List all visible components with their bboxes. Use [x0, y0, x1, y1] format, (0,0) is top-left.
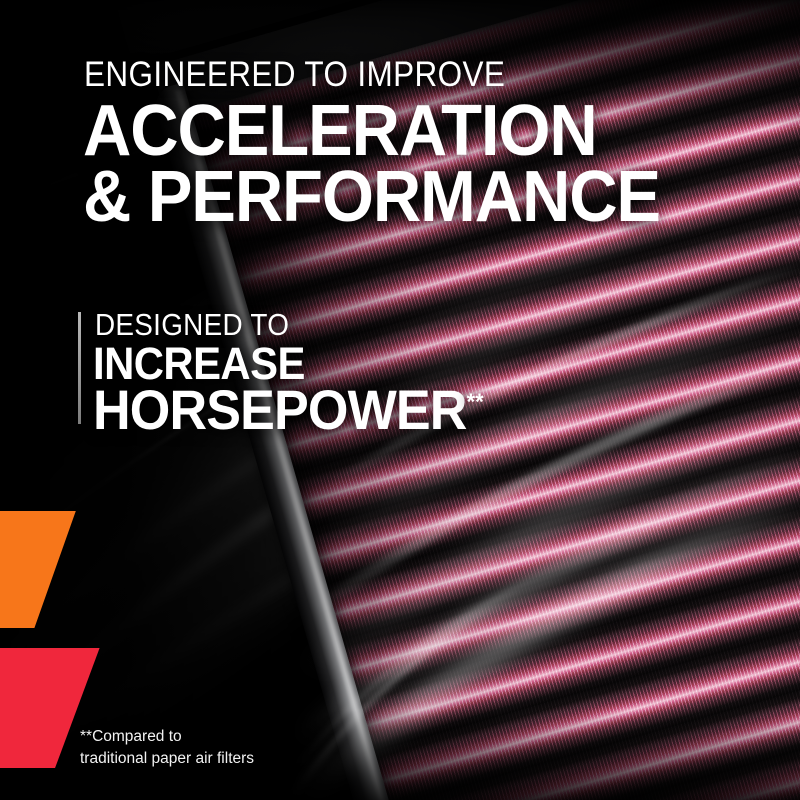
footnote-line-1: **Compared to [80, 726, 254, 748]
headline: ACCELERATION & PERFORMANCE [83, 98, 660, 230]
footnote: **Compared to traditional paper air filt… [80, 726, 254, 770]
subhead-line-2: HORSEPOWER** [93, 377, 484, 442]
subhead-line-2-text: HORSEPOWER [93, 378, 467, 441]
promo-banner: ENGINEERED TO IMPROVE ACCELERATION & PER… [0, 0, 800, 800]
headline-eyebrow: ENGINEERED TO IMPROVE [84, 55, 505, 95]
subhead-superscript-marker: ** [467, 388, 484, 414]
accent-shape-orange [0, 511, 85, 628]
headline-line-2: & PERFORMANCE [83, 164, 660, 230]
footnote-line-2: traditional paper air filters [80, 748, 254, 770]
subhead-vertical-rule [78, 312, 81, 424]
